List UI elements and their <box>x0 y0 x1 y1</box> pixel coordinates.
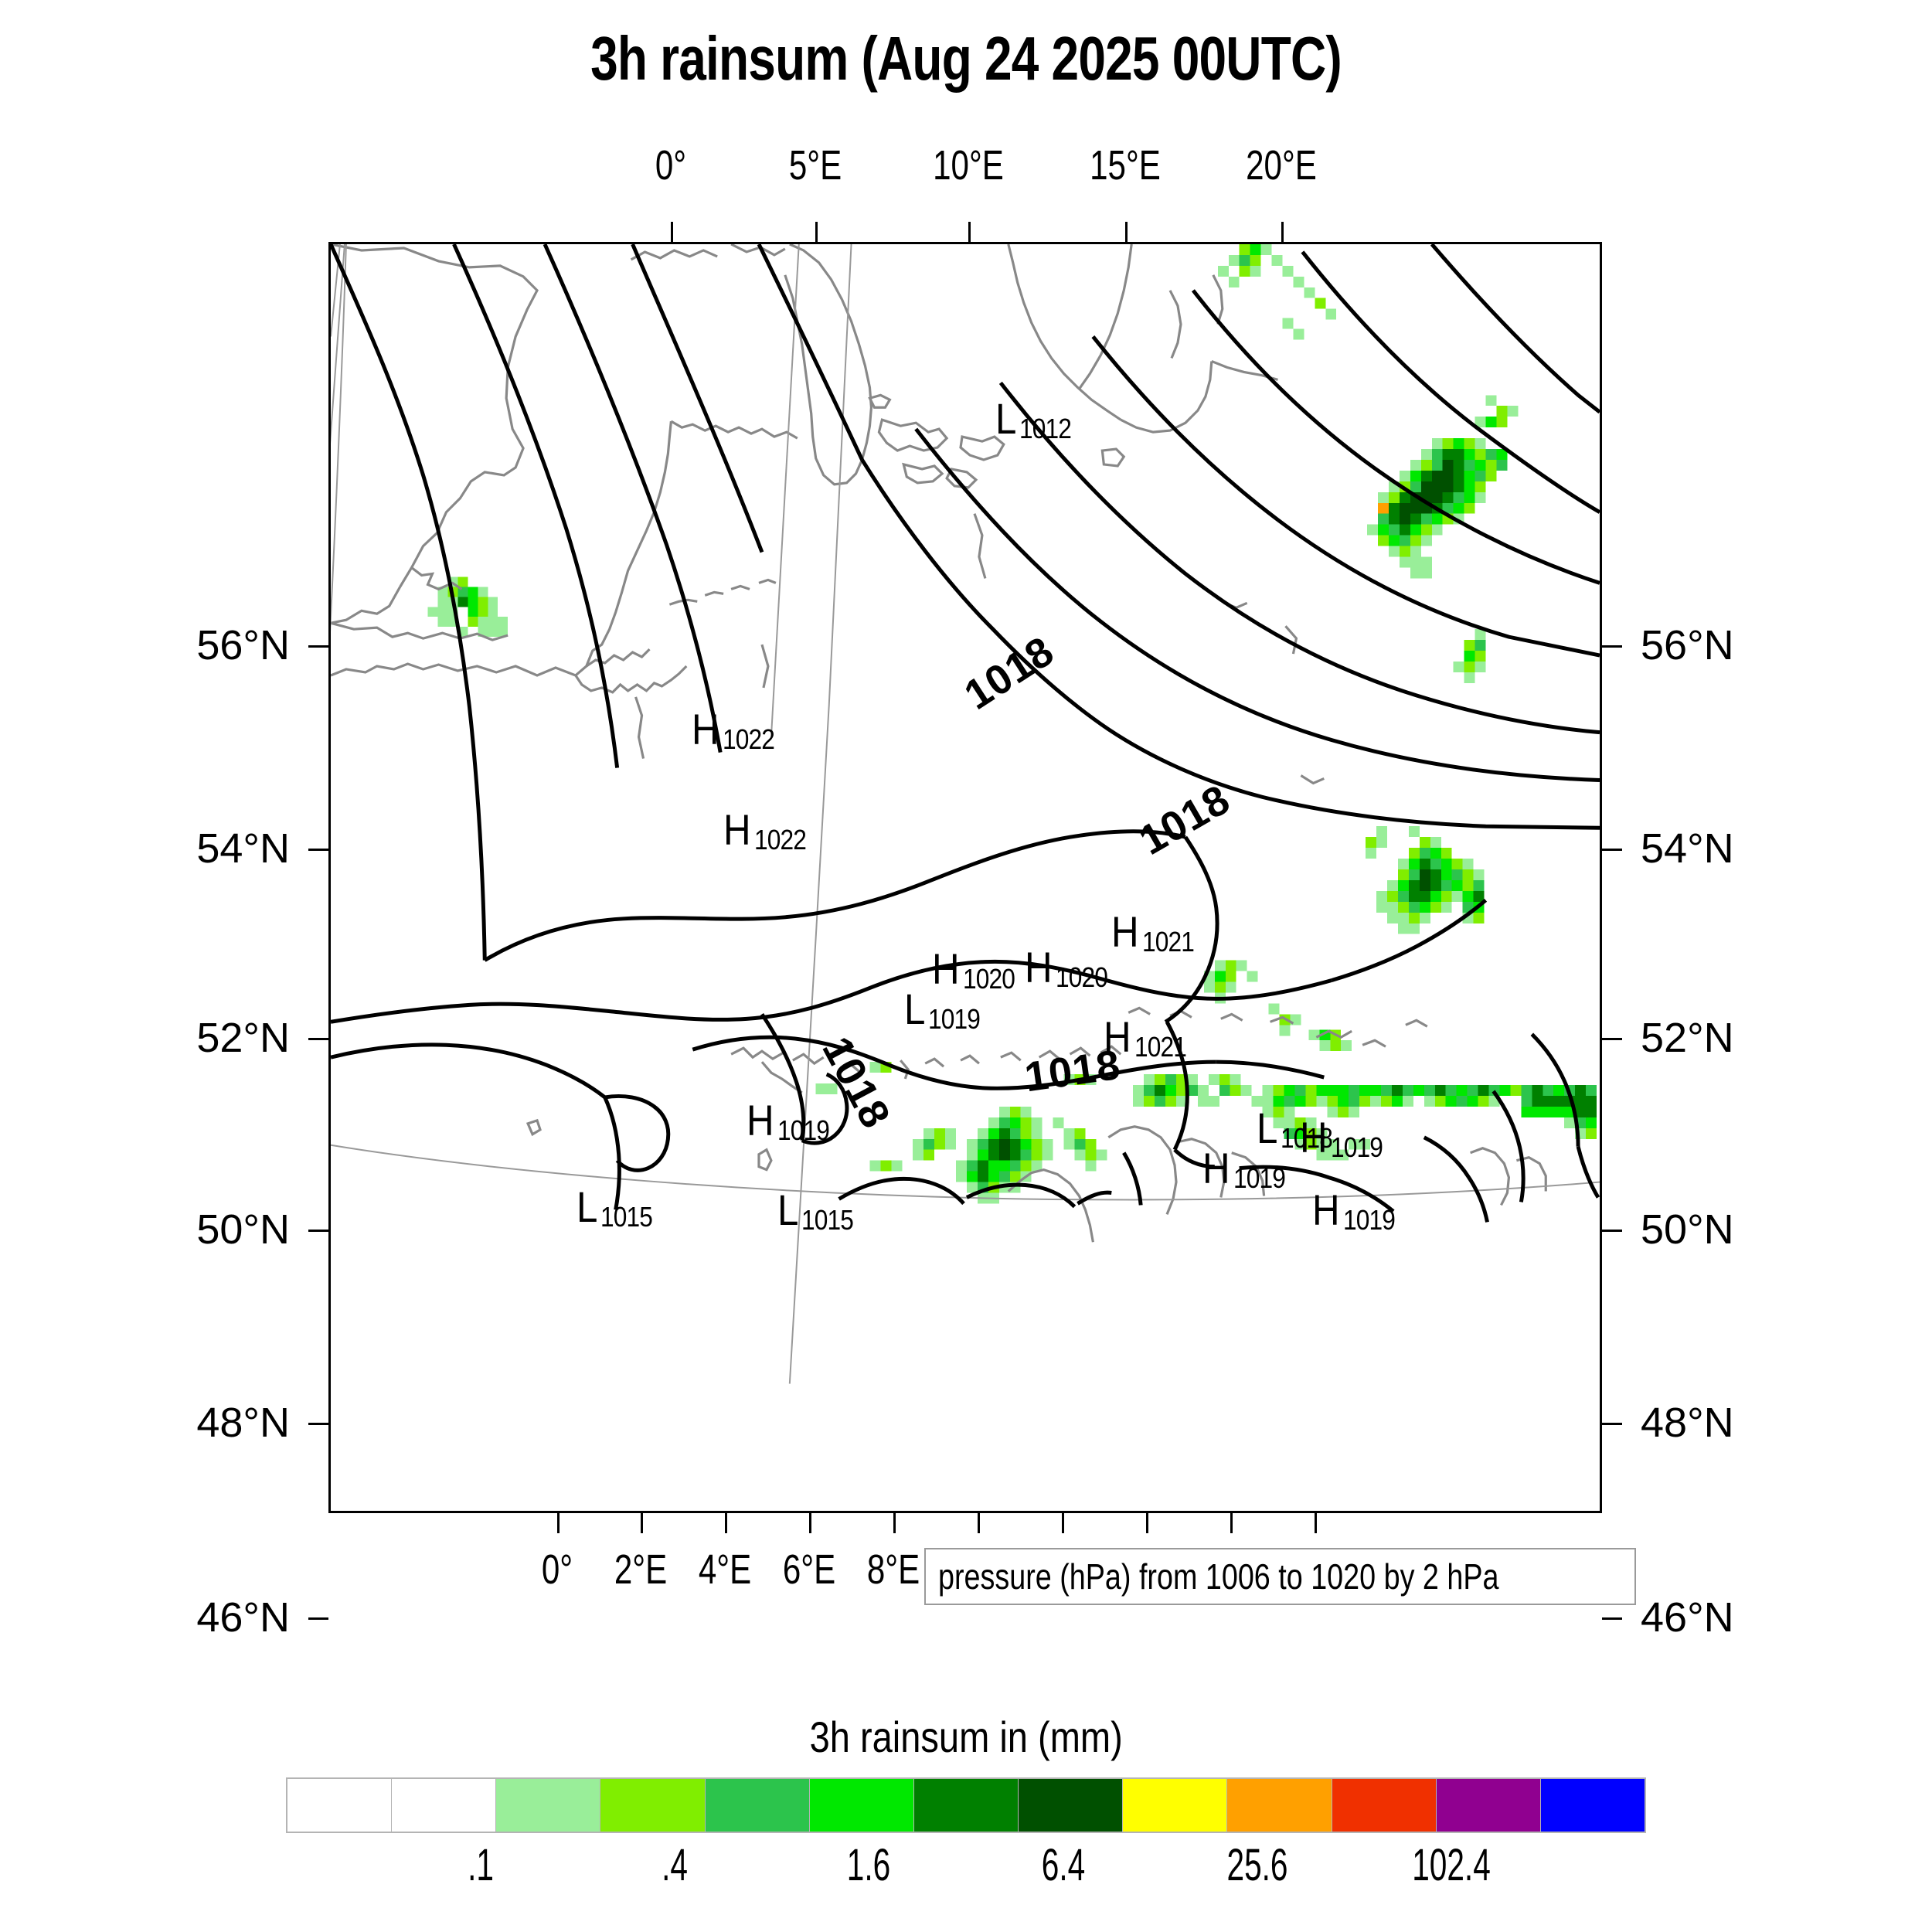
lon-tick-top <box>671 222 673 242</box>
colorbar-label: 102.4 <box>1413 1839 1492 1891</box>
lon-label-bottom: 8°E <box>867 1546 920 1594</box>
lon-tick-bottom <box>725 1513 727 1533</box>
lat-label-right: 48°N <box>1641 1399 1795 1447</box>
pressure-marker-H-1019: H1019 <box>1312 1189 1403 1234</box>
pressure-marker-H-1019: H1019 <box>1202 1147 1293 1192</box>
lon-tick-top <box>968 222 971 242</box>
lat-tick-right <box>1602 645 1622 648</box>
colorbar-cell-8[interactable] <box>1123 1779 1227 1832</box>
pressure-legend-text: pressure (hPa) from 1006 to 1020 by 2 hP… <box>938 1556 1498 1597</box>
lat-label-right: 46°N <box>1641 1594 1795 1641</box>
lon-tick-top <box>815 222 818 242</box>
lat-tick-left <box>308 645 328 648</box>
colorbar-label: 1.6 <box>847 1839 890 1891</box>
lon-label-top: 5°E <box>789 141 842 189</box>
pressure-legend-box: pressure (hPa) from 1006 to 1020 by 2 hP… <box>924 1548 1636 1605</box>
lon-label-top: 0° <box>655 141 686 189</box>
pressure-marker-L-1012: L1012 <box>995 397 1078 443</box>
graticule-layer <box>331 244 1600 1384</box>
lon-tick-bottom <box>1315 1513 1317 1533</box>
colorbar-tick-labels: .1.41.66.425.6102.4 <box>286 1839 1646 1909</box>
colorbar-cell-9[interactable] <box>1227 1779 1332 1832</box>
lat-label-left: 54°N <box>135 825 290 872</box>
page-title: 3h rainsum (Aug 24 2025 00UTC) <box>193 23 1739 94</box>
pressure-marker-H-1019: H1019 <box>1300 1116 1390 1162</box>
lon-tick-bottom <box>1230 1513 1233 1533</box>
pressure-marker-H-1022: H1022 <box>723 808 814 854</box>
lon-tick-bottom <box>1146 1513 1148 1533</box>
colorbar-cell-1[interactable] <box>392 1779 496 1832</box>
pressure-marker-H-1020: H1020 <box>932 947 1022 993</box>
lat-label-left: 50°N <box>135 1206 290 1253</box>
lat-tick-left <box>308 1617 328 1620</box>
lon-tick-bottom <box>978 1513 980 1533</box>
colorbar-cell-11[interactable] <box>1437 1779 1541 1832</box>
colorbar-cell-12[interactable] <box>1541 1779 1645 1832</box>
pressure-marker-H-1022: H1022 <box>692 708 782 753</box>
lat-label-left: 52°N <box>135 1014 290 1062</box>
lat-label-left: 56°N <box>135 621 290 669</box>
lat-label-right: 54°N <box>1641 825 1795 872</box>
lat-label-right: 50°N <box>1641 1206 1795 1253</box>
lon-tick-top <box>1125 222 1128 242</box>
pressure-marker-H-1019: H1019 <box>747 1099 837 1145</box>
lon-label-bottom: 6°E <box>783 1546 835 1594</box>
colorbar-cell-3[interactable] <box>600 1779 705 1832</box>
lat-tick-right <box>1602 849 1622 851</box>
colorbar-title-text: 3h rainsum in (mm) <box>809 1712 1122 1762</box>
lon-tick-bottom <box>1062 1513 1064 1533</box>
lat-tick-right <box>1602 1617 1622 1620</box>
lat-tick-right <box>1602 1423 1622 1425</box>
lat-tick-right <box>1602 1038 1622 1040</box>
map-canvas <box>331 244 1600 1511</box>
pressure-marker-H-1021: H1021 <box>1111 910 1202 956</box>
colorbar-label: 6.4 <box>1041 1839 1084 1891</box>
lon-label-top: 15°E <box>1090 141 1161 189</box>
colorbar-cell-2[interactable] <box>496 1779 600 1832</box>
lon-label-top: 20°E <box>1246 141 1317 189</box>
lon-tick-bottom <box>809 1513 811 1533</box>
colorbar-label: .4 <box>662 1839 688 1891</box>
lat-label-left: 46°N <box>135 1594 290 1641</box>
lat-tick-left <box>308 1423 328 1425</box>
lat-label-right: 56°N <box>1641 621 1795 669</box>
colorbar-cell-0[interactable] <box>287 1779 392 1832</box>
lon-label-top: 10°E <box>933 141 1004 189</box>
lon-label-bottom: 2°E <box>614 1546 667 1594</box>
lon-tick-top <box>1281 222 1284 242</box>
colorbar-cell-5[interactable] <box>810 1779 914 1832</box>
lon-label-bottom: 0° <box>542 1546 573 1594</box>
colorbar-label: 25.6 <box>1227 1839 1288 1891</box>
colorbar[interactable] <box>286 1777 1646 1833</box>
lat-label-left: 48°N <box>135 1399 290 1447</box>
lat-tick-right <box>1602 1230 1622 1232</box>
weather-map[interactable]: 1018 1018 1018 1018 L1012 H1022 H1022 H1… <box>328 242 1602 1513</box>
colorbar-cell-7[interactable] <box>1019 1779 1123 1832</box>
pressure-marker-H-1021: H1021 <box>1104 1015 1194 1061</box>
colorbar-cell-10[interactable] <box>1332 1779 1437 1832</box>
lat-tick-left <box>308 1038 328 1040</box>
lat-tick-left <box>308 849 328 851</box>
colorbar-cell-6[interactable] <box>914 1779 1019 1832</box>
lon-tick-bottom <box>893 1513 896 1533</box>
lon-tick-bottom <box>641 1513 643 1533</box>
lon-tick-bottom <box>557 1513 560 1533</box>
pressure-marker-H-1020: H1020 <box>1025 946 1115 992</box>
colorbar-cell-4[interactable] <box>706 1779 810 1832</box>
lon-label-bottom: 4°E <box>699 1546 751 1594</box>
colorbar-label: .1 <box>468 1839 494 1891</box>
pressure-marker-L-1019: L1019 <box>904 988 987 1033</box>
precipitation-layer <box>428 244 1597 1203</box>
pressure-marker-L-1015: L1015 <box>577 1185 659 1231</box>
pressure-marker-L-1015: L1015 <box>777 1189 860 1234</box>
lat-label-right: 52°N <box>1641 1014 1795 1062</box>
lat-tick-left <box>308 1230 328 1232</box>
isobar-layer <box>331 244 1600 1222</box>
colorbar-title: 3h rainsum in (mm) <box>0 1712 1932 1762</box>
